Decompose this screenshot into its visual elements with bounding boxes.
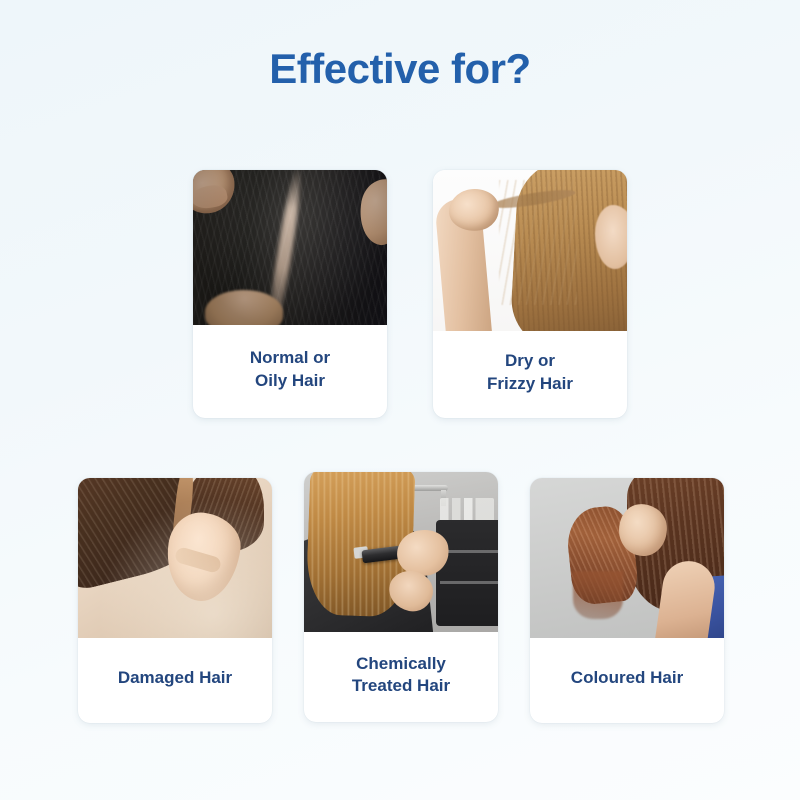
card-chemically-treated-hair[interactable]: Chemically Treated Hair xyxy=(304,472,498,722)
dry-frizzy-blonde-hair-photo xyxy=(433,170,627,331)
salon-flat-iron-photo xyxy=(304,472,498,632)
card-damaged-hair[interactable]: Damaged Hair xyxy=(78,478,272,723)
card-label-normal-or-oily-hair: Normal or Oily Hair xyxy=(193,325,387,418)
card-dry-or-frizzy-hair[interactable]: Dry or Frizzy Hair xyxy=(433,170,627,418)
card-normal-or-oily-hair[interactable]: Normal or Oily Hair xyxy=(193,170,387,418)
card-label-damaged-hair: Damaged Hair xyxy=(78,638,272,723)
card-label-chemically-treated-hair: Chemically Treated Hair xyxy=(304,632,498,722)
damaged-hair-ends-photo xyxy=(78,478,272,638)
coloured-auburn-hair-photo xyxy=(530,478,724,638)
effective-for-infographic: Effective for? Normal or Oily Hair xyxy=(0,0,800,800)
card-label-coloured-hair: Coloured Hair xyxy=(530,638,724,723)
page-title: Effective for? xyxy=(0,46,800,92)
scalp-hair-parting-photo xyxy=(193,170,387,325)
card-label-dry-or-frizzy-hair: Dry or Frizzy Hair xyxy=(433,331,627,418)
card-coloured-hair[interactable]: Coloured Hair xyxy=(530,478,724,723)
